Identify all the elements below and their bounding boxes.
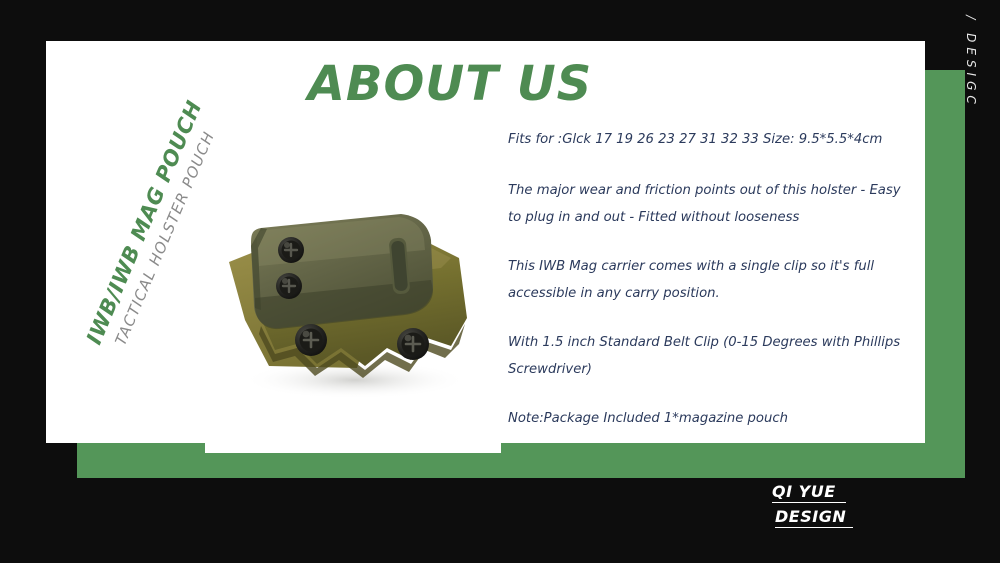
description-paragraph: This IWB Mag carrier comes with a single… — [508, 253, 908, 307]
side-label-group: IWB/IWB MAG POUCH TACTICAL HOLSTER POUCH — [0, 0, 220, 440]
description-block: Fits for :Glck 17 19 26 23 27 31 32 33 S… — [508, 126, 908, 456]
product-name-vertical-label: IWB/IWB MAG POUCH — [82, 97, 207, 348]
description-paragraph: Fits for :Glck 17 19 26 23 27 31 32 33 S… — [508, 126, 908, 153]
slide-canvas: ABOUT US IWB/IWB MAG POUCH TACTICAL HOLS… — [0, 0, 1000, 563]
description-paragraph: Note:Package Included 1*magazine pouch — [508, 405, 908, 432]
edge-watermark-text: / DESIGC — [964, 15, 978, 109]
content-card-bottom-tab — [205, 443, 501, 453]
description-paragraph: The major wear and friction points out o… — [508, 177, 908, 231]
page-title: ABOUT US — [300, 56, 600, 112]
brand-logo: QI YUE DESIGN — [772, 482, 853, 532]
brand-line-one: QI YUE — [772, 482, 846, 503]
brand-line-two: DESIGN — [775, 507, 853, 528]
edge-watermark: / DESIGC — [958, 62, 998, 192]
product-image — [205, 198, 495, 403]
description-paragraph: With 1.5 inch Standard Belt Clip (0-15 D… — [508, 329, 908, 383]
